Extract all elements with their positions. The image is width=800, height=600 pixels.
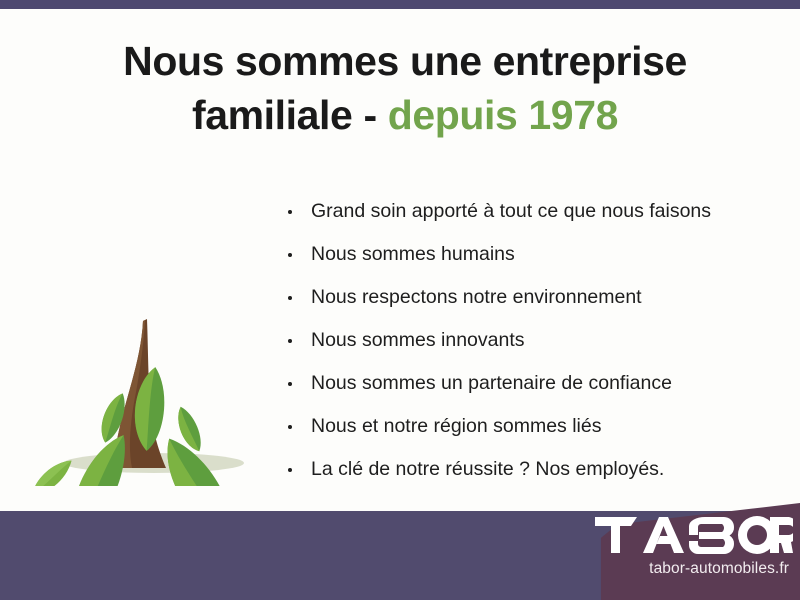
list-item-label: Nous sommes un partenaire de confiance <box>311 372 672 394</box>
brand-website-url[interactable]: tabor-automobiles.fr <box>563 560 789 578</box>
bullet-dot-icon <box>288 339 292 343</box>
top-accent-band <box>0 0 800 9</box>
headline-line-2-plain: familiale - <box>192 92 388 138</box>
bullet-dot-icon <box>288 468 292 472</box>
tabor-wordmark <box>593 511 793 557</box>
headline-line-1: Nous sommes une entreprise <box>123 38 687 84</box>
list-item: Nous et notre région sommes liés <box>286 405 756 448</box>
list-item-label: Nous sommes innovants <box>311 329 525 351</box>
list-item: Nous sommes un partenaire de confiance <box>286 362 756 405</box>
bullet-dot-icon <box>288 253 292 257</box>
bullet-dot-icon <box>288 210 292 214</box>
value-proposition-list: Grand soin apporté à tout ce que nous fa… <box>286 190 756 491</box>
slide-canvas: Nous sommes une entreprise familiale - d… <box>0 0 800 600</box>
bullet-dot-icon <box>288 382 292 386</box>
headline-accent: depuis 1978 <box>388 92 618 138</box>
bullet-dot-icon <box>288 296 292 300</box>
list-item: Grand soin apporté à tout ce que nous fa… <box>286 190 756 233</box>
list-item: La clé de notre réussite ? Nos employés. <box>286 448 756 491</box>
list-item: Nous respectons notre environnement <box>286 276 756 319</box>
page-title: Nous sommes une entreprise familiale - d… <box>60 34 750 142</box>
list-item-label: La clé de notre réussite ? Nos employés. <box>311 458 664 480</box>
list-item-label: Nous sommes humains <box>311 243 515 265</box>
bullet-dot-icon <box>288 425 292 429</box>
brand-logo-panel[interactable]: tabor-automobiles.fr <box>563 503 800 600</box>
list-item: Nous sommes humains <box>286 233 756 276</box>
list-item-label: Grand soin apporté à tout ce que nous fa… <box>311 200 711 222</box>
headline-line-2: familiale - depuis 1978 <box>60 88 750 142</box>
list-item-label: Nous respectons notre environnement <box>311 286 642 308</box>
tree-illustration <box>14 186 282 486</box>
list-item-label: Nous et notre région sommes liés <box>311 415 601 437</box>
list-item: Nous sommes innovants <box>286 319 756 362</box>
